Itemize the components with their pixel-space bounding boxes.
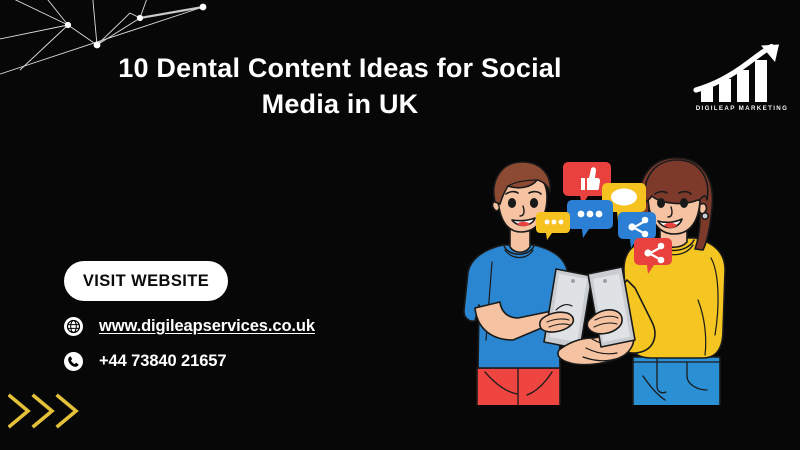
typing-dots-bubble-icon — [567, 200, 613, 238]
social-media-banner: 10 Dental Content Ideas for Social Media… — [0, 0, 800, 450]
logo-wordmark: DIGILEAP MARKETING — [692, 105, 792, 112]
phone-icon — [64, 352, 83, 371]
phone-number-text: +44 73840 21657 — [99, 352, 226, 371]
visit-website-button-label: VISIT WEBSITE — [83, 272, 209, 291]
triple-chevron-right-icon — [8, 390, 118, 432]
brand-logo: DIGILEAP MARKETING — [692, 44, 792, 120]
people-with-phones-illustration — [455, 150, 800, 450]
small-dots-bubble-icon — [536, 212, 570, 240]
headline-line-2: Media in UK — [262, 89, 419, 119]
phone-contact-row[interactable]: +44 73840 21657 — [64, 352, 226, 371]
growth-bar-chart-arrow-icon — [692, 44, 792, 106]
headline-line-1: 10 Dental Content Ideas for Social — [118, 53, 561, 83]
visit-website-button[interactable]: VISIT WEBSITE — [64, 261, 228, 301]
globe-icon — [64, 317, 83, 336]
website-url-link[interactable]: www.digileapservices.co.uk — [99, 317, 315, 336]
website-contact-row[interactable]: www.digileapservices.co.uk — [64, 317, 315, 336]
page-title: 10 Dental Content Ideas for Social Media… — [60, 50, 620, 122]
